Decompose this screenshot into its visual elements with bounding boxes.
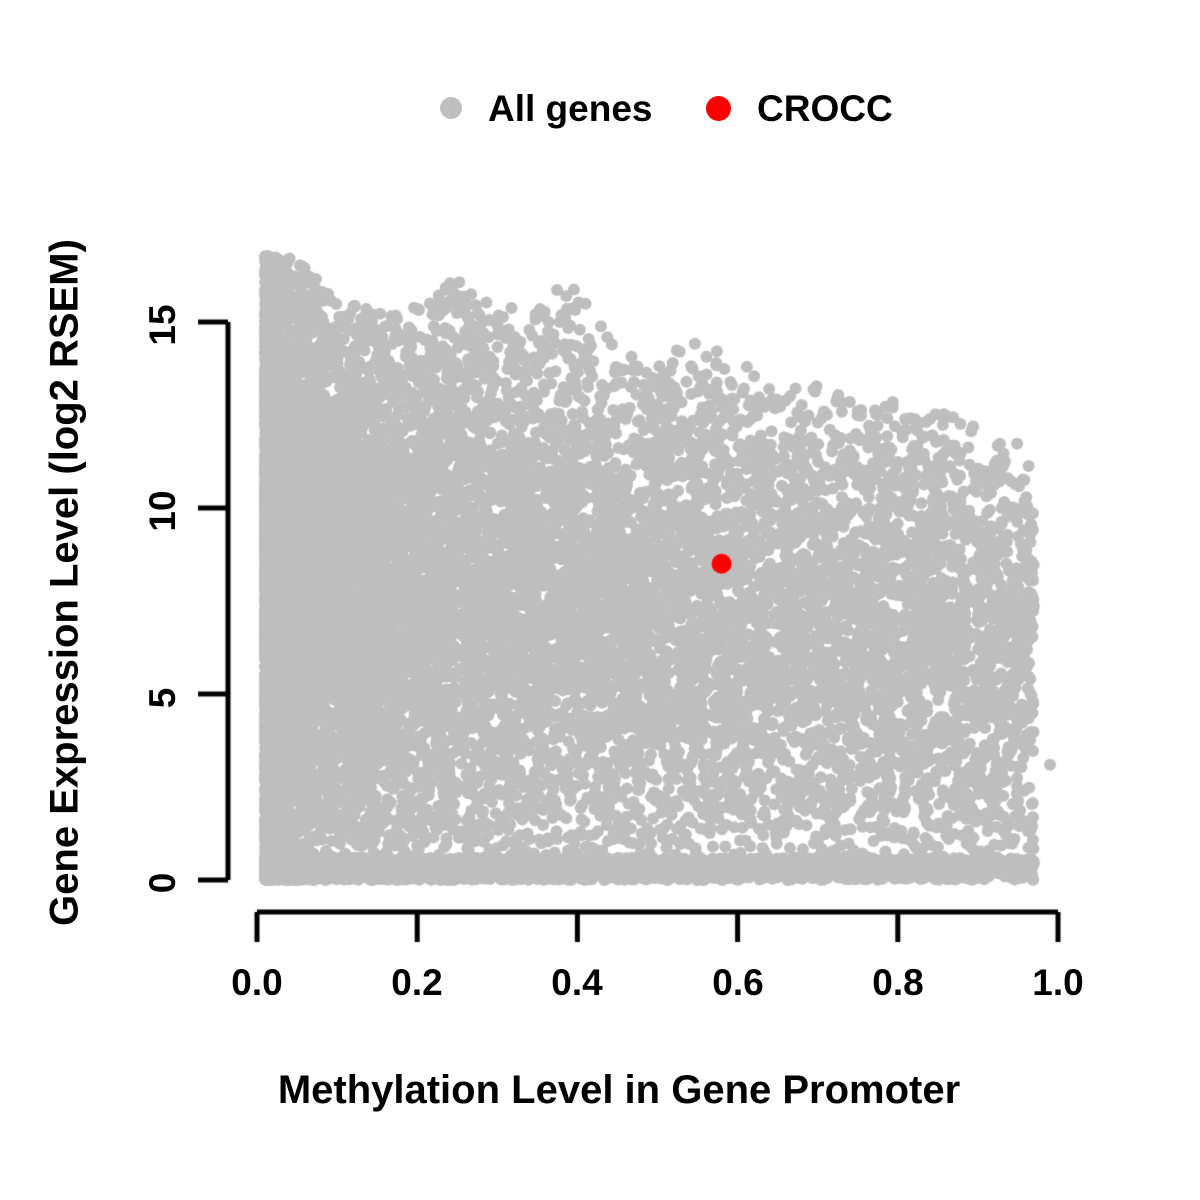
x-tick-label-0.4: 0.4 bbox=[532, 962, 622, 1004]
x-tick-label-0.0: 0.0 bbox=[212, 962, 302, 1004]
x-axis-label: Methylation Level in Gene Promoter bbox=[0, 1068, 1200, 1113]
x-tick-label-0.8: 0.8 bbox=[853, 962, 943, 1004]
scatter-plot-figure: All genes CROCC 0 5 10 15 0.0 0.2 0.4 0.… bbox=[0, 0, 1200, 1200]
y-tick-label-5: 5 bbox=[142, 668, 184, 728]
x-tick-label-0.6: 0.6 bbox=[693, 962, 783, 1004]
y-tick-label-10: 10 bbox=[142, 466, 184, 556]
x-tick-label-0.2: 0.2 bbox=[372, 962, 462, 1004]
y-tick-label-15: 15 bbox=[142, 280, 184, 370]
x-tick-label-1.0: 1.0 bbox=[1013, 962, 1103, 1004]
plot-area bbox=[0, 0, 1200, 1200]
y-tick-label-0: 0 bbox=[142, 853, 184, 913]
